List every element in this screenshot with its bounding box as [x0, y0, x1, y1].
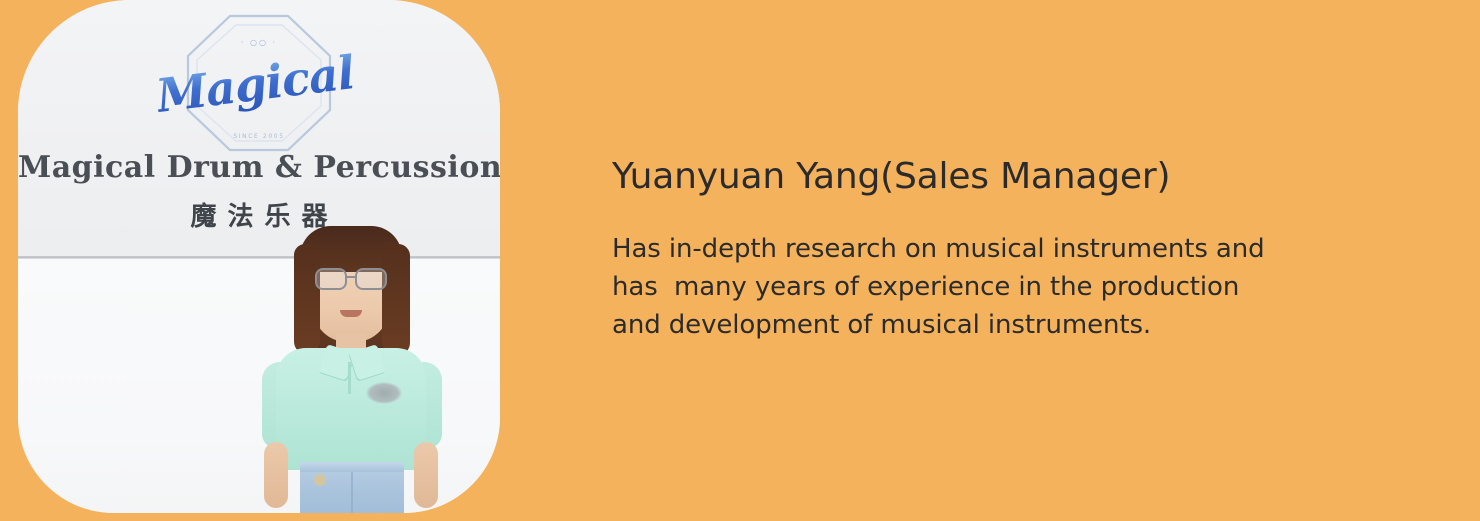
mouth: [340, 310, 362, 317]
glasses-icon: [314, 268, 388, 286]
employee-photo-card: · ○○ · Magical SINCE 2005 Magical Drum &…: [18, 0, 500, 513]
employee-bio: Has in-depth research on musical instrum…: [612, 230, 1372, 344]
logo-ornament: · ○○ ·: [241, 38, 277, 47]
magical-logo-badge: · ○○ · Magical SINCE 2005: [184, 12, 334, 154]
shirt-placket: [348, 362, 351, 394]
lens-left: [315, 268, 347, 290]
employee-name-and-role: Yuanyuan Yang(Sales Manager): [612, 155, 1170, 199]
jeans-waistband: [300, 462, 404, 472]
arm-right: [414, 442, 438, 508]
hair-left: [294, 244, 320, 354]
company-name-english: Magical Drum & Percussion: [18, 150, 500, 185]
employee-portrait: [256, 222, 446, 513]
chest-embroidery-logo: [366, 382, 402, 404]
hair-right: [382, 244, 410, 356]
arm-left: [264, 442, 288, 508]
jeans-seam: [351, 472, 353, 513]
logo-since-text: SINCE 2005: [233, 133, 284, 140]
staff-profile-banner: · ○○ · Magical SINCE 2005 Magical Drum &…: [0, 0, 1480, 521]
lens-right: [355, 268, 387, 290]
profile-text-column: Yuanyuan Yang(Sales Manager) Has in-dept…: [612, 0, 1402, 521]
jeans-button: [314, 474, 326, 486]
